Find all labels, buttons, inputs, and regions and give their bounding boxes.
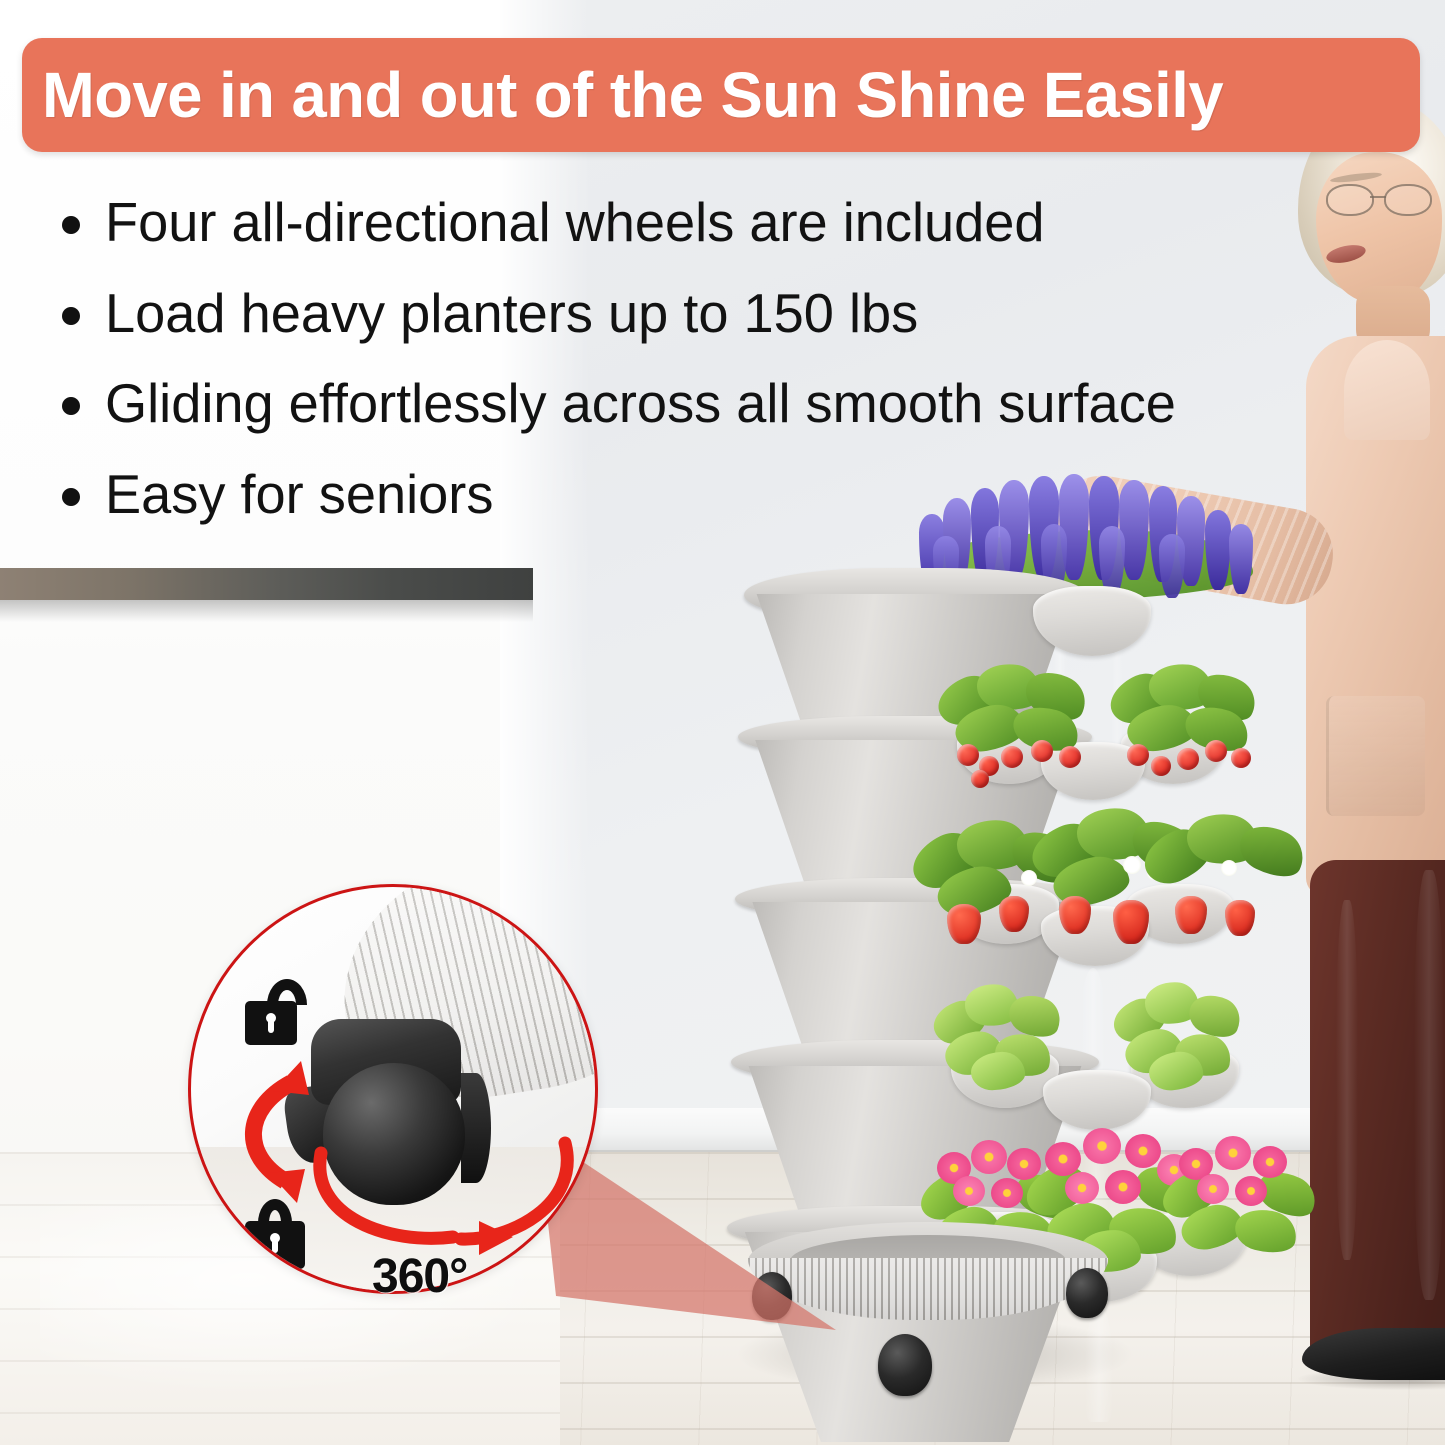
- background-counter-edge: [0, 568, 533, 600]
- feature-bullet-4-label: Easy for seniors: [105, 464, 493, 526]
- lock-icon: [245, 1199, 305, 1265]
- bullet-dot-icon: [62, 307, 80, 325]
- feature-bullet-1: Four all-directional wheels are included: [62, 192, 1412, 254]
- unlock-icon: [245, 979, 309, 1045]
- cardigan-pocket: [1326, 696, 1425, 816]
- unlock-keyslot: [268, 1021, 274, 1033]
- caster-detail-callout: [188, 884, 598, 1294]
- caster-wheel-front-left: [878, 1334, 932, 1396]
- bullet-dot-icon: [62, 488, 80, 506]
- trouser-fold: [1336, 900, 1358, 1260]
- feature-bullet-2-label: Load heavy planters up to 150 lbs: [105, 283, 918, 345]
- trouser-fold: [1414, 870, 1444, 1300]
- feature-bullet-4: Easy for seniors: [62, 464, 1412, 526]
- feature-bullet-3: Gliding effortlessly across all smooth s…: [62, 373, 1412, 435]
- bullet-dot-icon: [62, 216, 80, 234]
- feature-bullet-list: Four all-directional wheels are included…: [62, 192, 1412, 554]
- pot-rib: [1085, 1306, 1113, 1422]
- lock-keyslot: [272, 1241, 278, 1253]
- rotation-degree-label: 360°: [372, 1249, 467, 1304]
- headline-text: Move in and out of the Sun Shine Easily: [42, 58, 1223, 132]
- feature-bullet-1-label: Four all-directional wheels are included: [105, 192, 1045, 254]
- background-counter-shadow: [0, 600, 533, 622]
- trousers: [1310, 860, 1445, 1356]
- rotation-360-arrow-icon: [303, 1125, 583, 1255]
- headline-banner: Move in and out of the Sun Shine Easily: [22, 38, 1420, 152]
- feature-bullet-3-label: Gliding effortlessly across all smooth s…: [105, 373, 1176, 435]
- caster-wheel-rear-right: [1066, 1268, 1108, 1318]
- caster-wheel-rear-left: [752, 1272, 792, 1320]
- bullet-dot-icon: [62, 397, 80, 415]
- feature-bullet-2: Load heavy planters up to 150 lbs: [62, 283, 1412, 345]
- product-marketing-image: 360° Move in and out of the Sun Shine Ea…: [0, 0, 1445, 1445]
